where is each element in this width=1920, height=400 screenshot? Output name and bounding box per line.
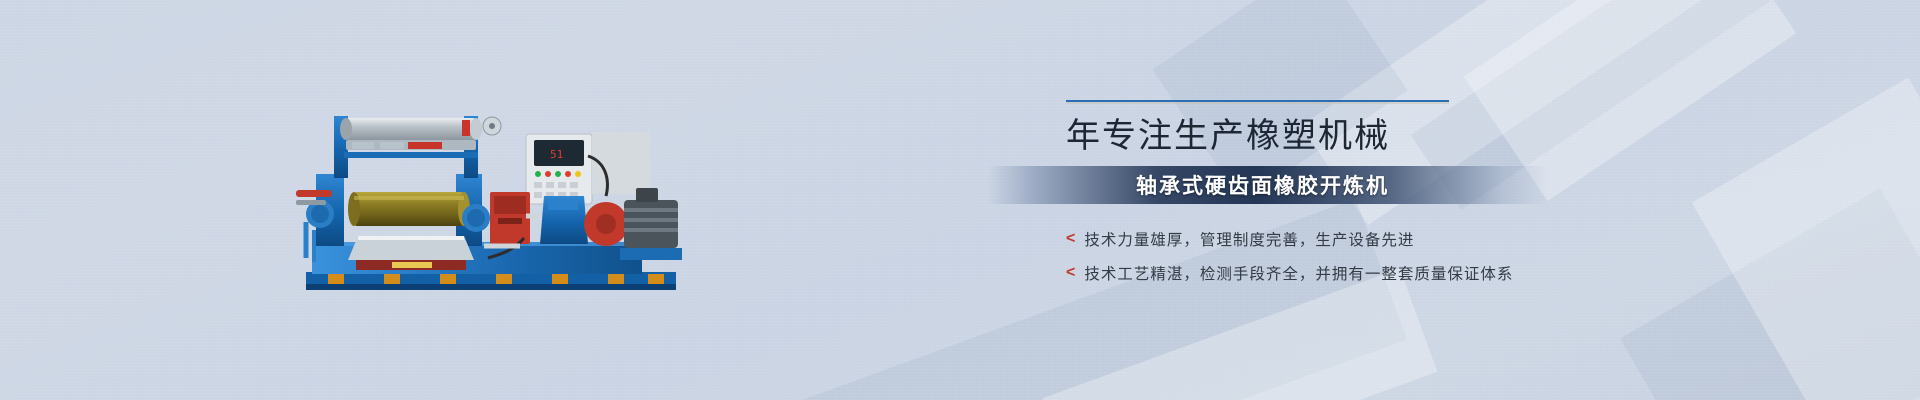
feature-text: 技术工艺精湛，检测手段齐全，并拥有一整套质量保证体系 xyxy=(1084,262,1513,284)
headline-divider xyxy=(1066,100,1449,102)
rubber-mixing-mill-illustration: 51 xyxy=(288,96,692,300)
product-name-banner: 轴承式硬齿面橡胶开炼机 xyxy=(988,166,1548,204)
svg-text:51: 51 xyxy=(550,148,563,161)
product-image: 51 xyxy=(288,96,692,300)
chevron-left-icon: < xyxy=(1066,231,1075,247)
feature-list: < 技术力量雄厚，管理制度完善，生产设备先进 < 技术工艺精湛，检测手段齐全，并… xyxy=(1066,228,1860,284)
feature-text: 技术力量雄厚，管理制度完善，生产设备先进 xyxy=(1084,228,1414,250)
feature-list-item: < 技术工艺精湛，检测手段齐全，并拥有一整套质量保证体系 xyxy=(1066,262,1860,284)
promo-banner: 51 xyxy=(0,0,1920,400)
page-title: 年专注生产橡塑机械 xyxy=(1066,114,1860,158)
chevron-left-icon: < xyxy=(1066,265,1075,281)
product-name-label: 轴承式硬齿面橡胶开炼机 xyxy=(1136,170,1389,200)
banner-text-panel: 年专注生产橡塑机械 轴承式硬齿面橡胶开炼机 < 技术力量雄厚，管理制度完善，生产… xyxy=(1060,100,1860,296)
feature-list-item: < 技术力量雄厚，管理制度完善，生产设备先进 xyxy=(1066,228,1860,250)
